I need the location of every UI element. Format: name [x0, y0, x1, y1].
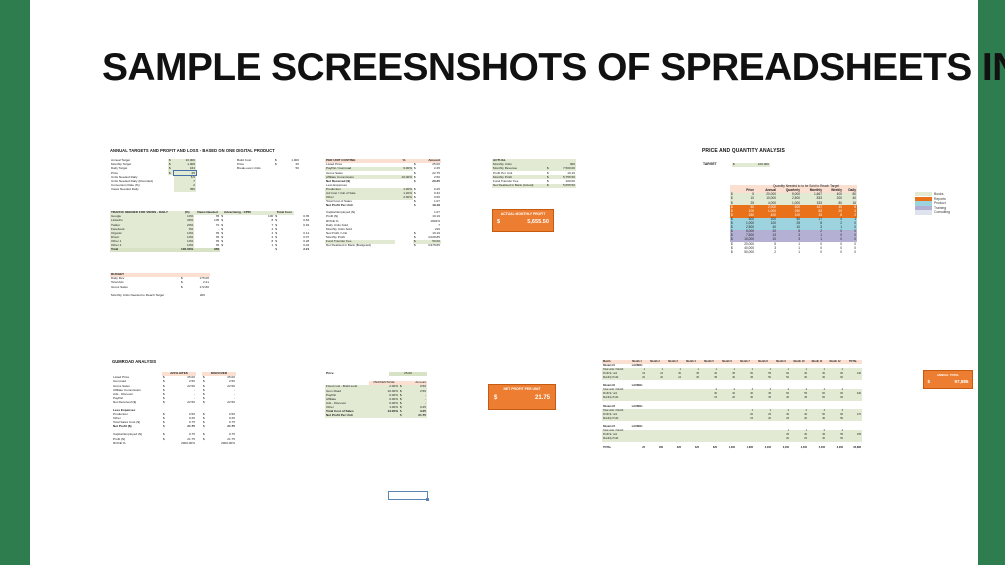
net-profit-per-unit-callout: NET PROFIT PER UNIT $ 21.75: [488, 384, 556, 410]
budget-footer-label: Monthly Units Needed to Reach Target: [110, 293, 186, 297]
months-total-cell: 6,000: [826, 446, 844, 450]
per-unit-label: Net Profit Per Unit: [325, 204, 395, 208]
annual-total-currency: $: [928, 379, 931, 384]
months-cell: [718, 438, 736, 442]
price-qty-row: $50,00021000: [730, 251, 857, 255]
per-unit-costing-table: PER UNIT COSTING%Amount Listed Price$25.…: [325, 159, 441, 208]
months-data-row: Monthly Profit1520303540455060: [602, 397, 862, 401]
months-cell: 45: [736, 376, 754, 380]
months-total-cell: 620: [700, 446, 718, 450]
months-cell: 30: [790, 417, 808, 421]
traffic-row: Total100.00%350$2.21: [110, 248, 310, 252]
months-matrix-table: MonthMonth 1Month 2Month 3Month 4Month 5…: [602, 360, 862, 450]
months-cell: [628, 417, 646, 421]
budget-footer: Monthly Units Needed to Reach Target 200: [110, 293, 206, 297]
per-unit-extra-amount: 3,978.85: [419, 244, 441, 248]
months-total-label: TOTAL: [602, 446, 628, 450]
price-cost-price-value: 25.00: [389, 372, 427, 376]
traffic-col-header: Total Cost: [274, 211, 294, 215]
price-cost-price-row: Price 25.00: [325, 372, 427, 376]
price-qty-currency: $: [730, 251, 739, 255]
months-total-cell: 1,000: [718, 446, 736, 450]
per-unit-extra-label: Net Realised in Bank (Budgeted): [325, 244, 395, 248]
left-color-band: [0, 0, 30, 565]
months-total-cell: 20: [628, 446, 646, 450]
traffic-cpm-value: [254, 248, 274, 252]
gumroad-table: AFFILIATES DISCOVER Listed Price$25.00$2…: [112, 372, 236, 405]
price-qty-table-block: Quantity Needed to to be Sold to Reach T…: [730, 185, 857, 255]
traffic-cpm-currency: [220, 248, 254, 252]
months-data-row: Monthly Profit202024303540455050303060: [602, 376, 862, 380]
annual-total-callout: ANNUAL TOTAL $ 97,885: [923, 370, 973, 389]
traffic-table: TRAFFIC NEEDED FOR VIEWS - DAILY(%)Views…: [110, 211, 310, 252]
legend-item: Consulting: [915, 210, 950, 215]
per-unit-extra-table: Capital Employed ($)1.07Profit ($)19.19R…: [325, 211, 441, 248]
gumroad-expenses-table: Less Expenses Production$0.50$0.50Other$…: [112, 409, 236, 429]
slide-canvas: SAMPLE SCREESNSHOTS OF SPREADSHEETS IN D…: [30, 0, 978, 565]
budget-table: BUDGETDaily Rev$175.00Total Ads$2.21Gros…: [110, 273, 210, 289]
months-total-row: TOTAL201803204206201,0001,8002,4003,4004…: [602, 446, 862, 450]
npu-callout-value: 21.75: [535, 395, 550, 401]
budget-row: Gross Sales$172.80: [110, 285, 210, 289]
traffic-pct: 100.00%: [180, 248, 194, 252]
annual-total-label: ANNUAL TOTAL: [926, 373, 971, 377]
budget-currency: $: [180, 285, 188, 289]
months-cell: [718, 417, 736, 421]
months-cell: [664, 397, 682, 401]
months-total-cell: 180: [646, 446, 664, 450]
price-cost-pct: [369, 414, 399, 418]
months-cell: [736, 438, 754, 442]
annual-targets-title: ANNUAL TARGETS AND PROFIT AND LOSS - BAS…: [110, 149, 310, 154]
months-total-cell: 1,800: [736, 446, 754, 450]
months-cell: 35: [754, 397, 772, 401]
months-total-cell: 3,400: [772, 446, 790, 450]
per-unit-amount: 19.19: [419, 204, 441, 208]
selected-cell-rectangle[interactable]: [388, 491, 428, 500]
price-qty-quarterly: 1: [777, 251, 801, 255]
months-cell: 30: [682, 376, 700, 380]
months-cell: [646, 438, 664, 442]
months-cell: 25: [772, 417, 790, 421]
months-cell: [628, 438, 646, 442]
gumroad-aff-value: 2900.00%: [168, 441, 196, 445]
gumroad-row: ROCE %2900.00%2900.00%: [112, 441, 236, 445]
per-unit-costing-block: PER UNIT COSTING%Amount Listed Price$25.…: [325, 159, 441, 248]
months-total-cell: 2,400: [754, 446, 772, 450]
annual-target-value: 350: [174, 188, 196, 192]
months-cell: 20: [754, 417, 772, 421]
months-total-cell: 5,400: [808, 446, 826, 450]
actual-callout-label: ACTUAL MONTHLY PROFIT: [495, 212, 551, 216]
annual-side-label: Break-even Units: [236, 167, 274, 171]
npu-callout-label: NET PROFIT PER UNIT: [491, 387, 553, 391]
traffic-source: Total: [110, 248, 180, 252]
budget-value: 172.80: [188, 285, 210, 289]
months-data-row: Monthly Profit152025304050: [602, 417, 862, 421]
target-currency: $: [732, 163, 740, 167]
months-cell: [844, 417, 862, 421]
months-cell: [682, 438, 700, 442]
gumroad-label: Net Received ($): [112, 401, 162, 405]
price-qty-annual: 2: [755, 251, 777, 255]
traffic-col-header: Advertising - CPM: [220, 211, 254, 215]
months-cell: [628, 397, 646, 401]
annual-targets-table: Annual Target$10,000Monthly Target$1,000…: [110, 159, 196, 192]
months-cell: 20: [646, 376, 664, 380]
annual-side-table: Build Cost$1,000Price$25Break-even Units…: [236, 159, 300, 171]
gumroad-row: Net Profit ($)$21.75$21.75: [112, 425, 236, 429]
months-cell: 24: [664, 376, 682, 380]
legend-label: Reports: [934, 197, 946, 201]
price-cost-amount: 21.75: [405, 414, 427, 418]
legend-label: Product: [934, 201, 946, 205]
gumroad-dis-value: 21.75: [208, 425, 236, 429]
months-cell: [664, 417, 682, 421]
price-cost-block: Price 25.00 PERCENTAGEAmount Fixed cost …: [325, 372, 427, 418]
annual-total-value: 97,885: [954, 379, 968, 384]
traffic-total: 2.21: [294, 248, 310, 252]
per-unit-pct: [395, 204, 413, 208]
months-matrix-block: MonthMonth 1Month 2Month 3Month 4Month 5…: [602, 360, 862, 450]
months-cell: [646, 417, 664, 421]
actual-label: Net Realised in Bank (Actual): [492, 184, 546, 188]
annual-side-value: 50: [280, 167, 300, 171]
months-cell: [664, 438, 682, 442]
legend-swatch: [915, 210, 932, 214]
months-cell: 40: [718, 376, 736, 380]
months-cell: [646, 397, 664, 401]
budget-label: Gross Sales: [110, 285, 180, 289]
months-cell: 30: [790, 376, 808, 380]
months-cell: 50: [772, 376, 790, 380]
price-cost-row: Net Profit Per Unit$21.75: [325, 414, 427, 418]
annual-targets-block: ANNUAL TARGETS AND PROFIT AND LOSS - BAS…: [110, 149, 310, 154]
gumroad-label: ROCE %: [112, 441, 162, 445]
months-cell: 25: [790, 438, 808, 442]
actual-value: 5,655.50: [552, 184, 576, 188]
months-cell: 50: [754, 376, 772, 380]
actual-block: ACTUAL Monthly Units300Monthly Revenue$7…: [492, 159, 576, 188]
price-qty-weekly: 0: [823, 251, 843, 255]
actual-callout-currency: $: [497, 219, 500, 225]
gumroad-footer-table: Capital Employed ($)$0.75$0.75Profit ($)…: [112, 433, 236, 445]
months-cell: [700, 438, 718, 442]
legend-label: Books: [934, 192, 943, 196]
legend-label: Consulting: [934, 210, 950, 214]
gumroad-block: AFFILIATES DISCOVER Listed Price$25.00$2…: [112, 372, 236, 446]
gumroad-label: Net Profit ($): [112, 425, 162, 429]
price-qty-daily: 0: [843, 251, 857, 255]
months-cell: [844, 376, 862, 380]
legend-label: Training: [934, 206, 946, 210]
months-cell: 50: [826, 417, 844, 421]
traffic-views: 350: [194, 248, 220, 252]
months-cell: [682, 397, 700, 401]
price-qty-title: PRICE AND QUANTITY ANALYSIS: [702, 149, 785, 155]
gumroad-dis-value: 2900.00%: [208, 441, 236, 445]
months-cell: 20: [772, 438, 790, 442]
price-cost-label: Net Profit Per Unit: [325, 414, 369, 418]
gumroad-row: Net Received ($)$22.50$22.50: [112, 401, 236, 405]
npu-callout-currency: $: [494, 395, 497, 401]
months-cell: 60: [826, 376, 844, 380]
months-cell: 45: [790, 397, 808, 401]
months-cell: 35: [700, 376, 718, 380]
months-total-cell: 320: [664, 446, 682, 450]
months-cell: 60: [826, 397, 844, 401]
annual-side-rows: Build Cost$1,000Price$25Break-even Units…: [236, 159, 300, 171]
months-cell: [754, 438, 772, 442]
actual-row: Net Realised in Bank (Actual)$5,655.50: [492, 184, 576, 188]
months-cell: [700, 417, 718, 421]
annual-side-row: Break-even Units50: [236, 167, 300, 171]
page-title: SAMPLE SCREESNSHOTS OF SPREADSHEETS IN D…: [102, 46, 912, 90]
annual-targets-rows: Annual Target$10,000Monthly Target$1,000…: [110, 159, 196, 192]
traffic-block: TRAFFIC NEEDED FOR VIEWS - DAILY(%)Views…: [110, 211, 310, 252]
months-cell: 40: [808, 438, 826, 442]
months-cell: 30: [808, 376, 826, 380]
months-cell: 50: [808, 397, 826, 401]
months-cell: 20: [628, 376, 646, 380]
price-qty-price: 50,000: [739, 251, 755, 255]
months-cell: 40: [808, 417, 826, 421]
price-qty-target-row: TARGET $ 100,000: [702, 163, 770, 167]
price-cost-table: PERCENTAGEAmount Fixed cost - Build sunk…: [325, 381, 427, 418]
months-total-cell: 95,886: [844, 446, 862, 450]
gumroad-aff-value: 21.75: [168, 425, 196, 429]
per-unit-row: Net Profit Per Unit$19.19: [325, 204, 441, 208]
months-cell: 40: [772, 397, 790, 401]
budget-footer-value: 200: [186, 293, 206, 297]
gumroad-dis-value: 22.50: [208, 401, 236, 405]
months-cell: 15: [736, 417, 754, 421]
gumroad-aff-value: 22.50: [168, 401, 196, 405]
months-cell: 30: [736, 397, 754, 401]
target-value: 100,000: [740, 163, 770, 167]
traffic-total-currency: $: [274, 248, 294, 252]
months-cell: 50: [826, 438, 844, 442]
annual-target-label: Views Needed Daily: [110, 188, 168, 192]
months-total-cell: 420: [682, 446, 700, 450]
price-qty-monthly: 0: [801, 251, 823, 255]
months-cell: [844, 438, 862, 442]
months-data-row: Monthly Profit20254050: [602, 438, 862, 442]
months-total-cell: 4,400: [790, 446, 808, 450]
price-qty-table: Quantity Needed to to be Sold to Reach T…: [730, 185, 857, 255]
actual-monthly-profit-callout: ACTUAL MONTHLY PROFIT $ 5,655.50: [492, 209, 554, 232]
price-cost-price-label: Price: [325, 372, 369, 376]
months-cell: [844, 397, 862, 401]
price-qty-legend: BooksReportsProductTrainingConsulting: [915, 192, 950, 215]
months-cell: 15: [700, 397, 718, 401]
budget-block: BUDGETDaily Rev$175.00Total Ads$2.21Gros…: [110, 273, 210, 297]
gumroad-title: GUMROAD ANALYSIS: [112, 360, 156, 365]
months-cell: 20: [718, 397, 736, 401]
per-unit-extra-row: Net Realised in Bank (Budgeted)$3,978.85: [325, 244, 441, 248]
annual-target-row: Views Needed Daily350: [110, 188, 196, 192]
actual-callout-value: 5,655.50: [527, 219, 549, 225]
actual-table: ACTUAL Monthly Units300Monthly Revenue$7…: [492, 159, 576, 188]
target-label: TARGET: [702, 163, 732, 167]
months-cell: [682, 417, 700, 421]
